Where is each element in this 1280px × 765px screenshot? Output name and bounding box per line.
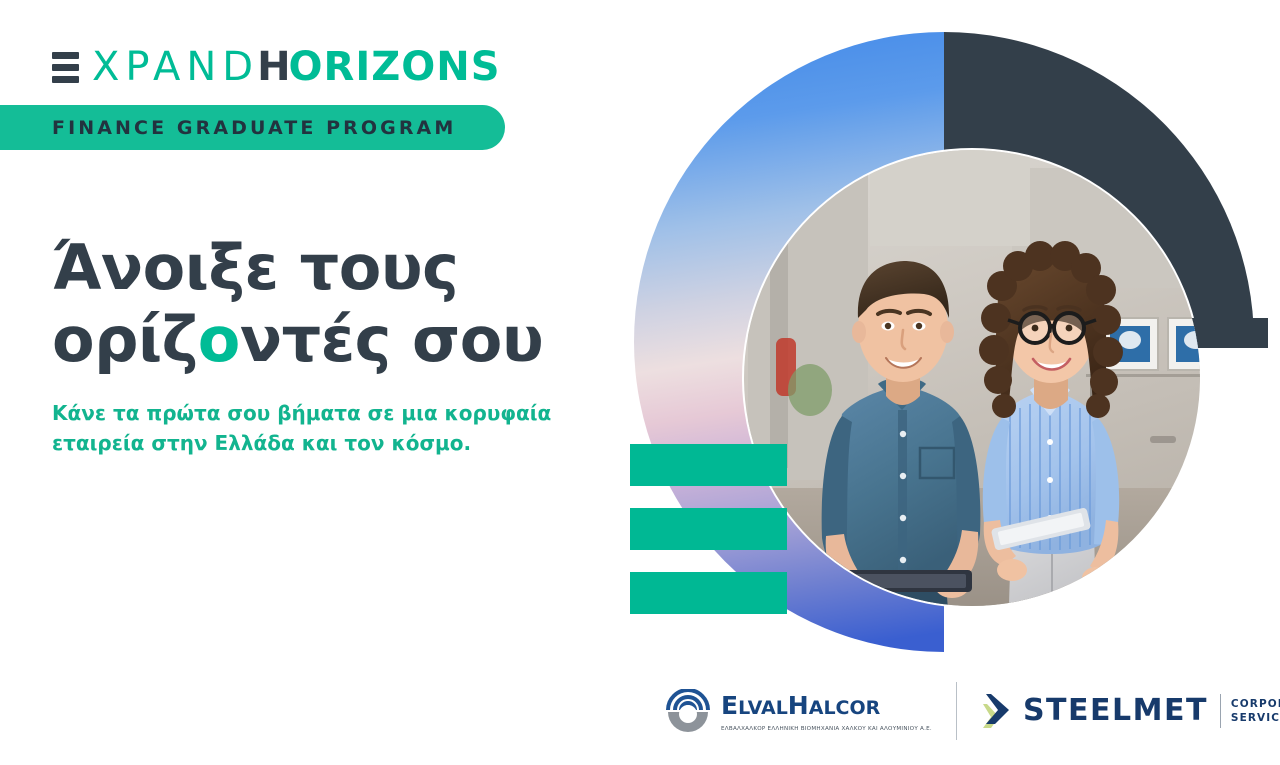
page-subtitle: Κάνε τα πρώτα σου βήματα σε μια κορυφαία… xyxy=(52,398,572,458)
elval-cap-e: E xyxy=(721,691,738,720)
headline-accent-letter: ο xyxy=(198,303,240,376)
accent-bar-1 xyxy=(630,444,787,486)
subtitle-line-1: Κάνε τα πρώτα σου βήματα σε μια κορυφαία xyxy=(52,398,572,428)
steelmet-divider xyxy=(1220,694,1221,728)
logo-word-orizons: ORIZONS xyxy=(289,44,501,90)
poster-canvas: XPAND HORIZONS FINANCE GRADUATE PROGRAM … xyxy=(0,0,1280,765)
accent-bar-2 xyxy=(630,508,787,550)
steelmet-chevron-icon xyxy=(983,692,1015,730)
elvalhalcor-wordmark: ELVALHALCOR ΕΛΒΑΛΧΑΛΚΟΡ ΕΛΛΗΝΙΚΗ ΒΙΟΜΗΧΑ… xyxy=(721,689,932,732)
steelmet-wordmark: STEELMET xyxy=(1023,695,1208,727)
elval-alcor: ALCOR xyxy=(809,697,881,719)
headline-line-2-part-a: ορίζ xyxy=(52,303,198,376)
e-bars-icon xyxy=(52,52,79,83)
elvalhalcor-logo: ELVALHALCOR ΕΛΒΑΛΧΑΛΚΟΡ ΕΛΛΗΝΙΚΗ ΒΙΟΜΗΧΑ… xyxy=(665,689,932,733)
accent-bar-3 xyxy=(630,572,787,614)
program-pill-label: FINANCE GRADUATE PROGRAM xyxy=(52,117,456,139)
steelmet-logo: STEELMET CORPORATE SERVICES xyxy=(983,692,1280,730)
page-title: Άνοιξε τους ορίζοντές σου xyxy=(52,232,612,376)
accent-bars-group xyxy=(630,444,792,614)
logo-word-xpand: XPAND xyxy=(92,47,259,87)
subtitle-line-2: εταιρεία στην Ελλάδα και τον κόσμο. xyxy=(52,428,572,458)
elval-lval: LVAL xyxy=(738,697,788,719)
partner-logos-row: ELVALHALCOR ΕΛΒΑΛΧΑΛΚΟΡ ΕΛΛΗΝΙΚΗ ΒΙΟΜΗΧΑ… xyxy=(665,680,1280,742)
logo-divider xyxy=(956,682,957,740)
elval-cap-h: H xyxy=(788,691,809,720)
headline-line-2-part-b: ντές σου xyxy=(240,303,543,376)
left-content-column: XPAND HORIZONS FINANCE GRADUATE PROGRAM … xyxy=(0,0,640,765)
elvalhalcor-name: ELVALHALCOR xyxy=(721,693,932,721)
hero-circular-graphic xyxy=(620,18,1268,666)
elvalhalcor-mark-icon xyxy=(665,689,711,733)
headline-line-1: Άνοιξε τους xyxy=(52,231,458,304)
program-pill-banner: FINANCE GRADUATE PROGRAM xyxy=(0,105,505,150)
steelmet-sub-line-1: CORPORATE xyxy=(1231,697,1280,711)
headline-line-2: ορίζοντές σου xyxy=(52,304,612,376)
elvalhalcor-tagline: ΕΛΒΑΛΧΑΛΚΟΡ ΕΛΛΗΝΙΚΗ ΒΙΟΜΗΧΑΝΙΑ ΧΑΛΚΟΥ Κ… xyxy=(721,726,932,732)
expand-horizons-logo: XPAND HORIZONS xyxy=(52,44,501,90)
steelmet-subtitle: CORPORATE SERVICES xyxy=(1231,697,1280,725)
logo-word-horizons: HORIZONS xyxy=(257,47,500,87)
steelmet-sub-line-2: SERVICES xyxy=(1231,711,1280,725)
logo-letter-h: H xyxy=(257,44,284,90)
